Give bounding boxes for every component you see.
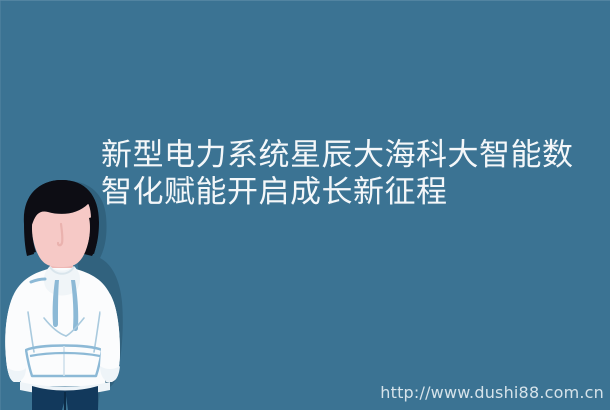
page-title: 新型电力系统星辰大海科大智能数 智化赋能开启成长新征程 — [101, 137, 601, 211]
image-canvas: 新型电力系统星辰大海科大智能数 智化赋能开启成长新征程 http://www.d… — [0, 0, 610, 410]
title-line-1: 新型电力系统星辰大海科大智能数 — [101, 137, 601, 174]
person-illustration — [0, 176, 130, 410]
top-edge-highlight — [0, 0, 610, 1]
title-line-2: 智化赋能开启成长新征程 — [101, 174, 601, 211]
watermark-url: http://www.dushi88.com.cn — [380, 383, 604, 402]
